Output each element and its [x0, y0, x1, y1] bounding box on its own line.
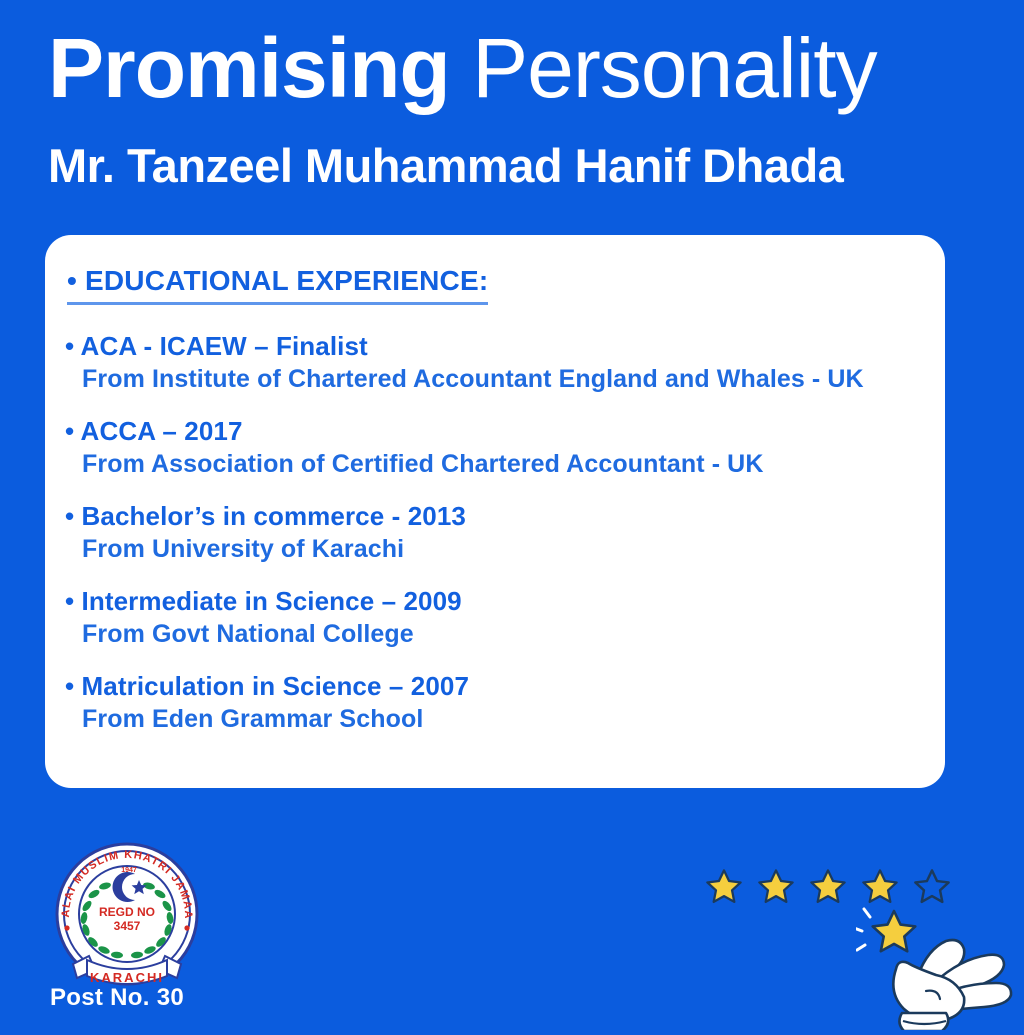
entry-institution: From Govt National College: [82, 620, 911, 649]
page-title: Promising Personality: [48, 26, 988, 110]
education-entry: • Matriculation in Science – 2007 From E…: [65, 671, 911, 734]
education-entry: • ACCA – 2017 From Association of Certif…: [65, 416, 911, 479]
star-icon-filled: [807, 866, 849, 913]
entry-institution: From University of Karachi: [82, 535, 911, 564]
person-name: Mr. Tanzeel Muhammad Hanif Dhada: [48, 138, 988, 193]
svg-text:1947: 1947: [121, 867, 137, 874]
svg-text:REGD NO: REGD NO: [99, 905, 155, 919]
hand-holding-star-illustration: [856, 905, 1024, 1030]
entry-title: • ACA - ICAEW – Finalist: [65, 331, 911, 362]
entry-institution: From Association of Certified Chartered …: [82, 450, 911, 479]
education-entry: • ACA - ICAEW – Finalist From Institute …: [65, 331, 911, 394]
education-entry: • Bachelor’s in commerce - 2013 From Uni…: [65, 501, 911, 564]
entry-title: • ACCA – 2017: [65, 416, 911, 447]
svg-text:KARACHI: KARACHI: [90, 970, 164, 985]
entry-title: • Intermediate in Science – 2009: [65, 586, 911, 617]
seal-icon: HALAI MUSLIM KHATRI JAMAAT: [47, 836, 207, 996]
education-entry-list: • ACA - ICAEW – Finalist From Institute …: [65, 331, 911, 734]
star-icon-filled: [755, 866, 797, 913]
page-title-bold: Promising: [48, 21, 450, 115]
entry-institution: From Eden Grammar School: [82, 705, 911, 734]
organization-logo: HALAI MUSLIM KHATRI JAMAAT: [47, 836, 207, 996]
section-heading-educational-experience: • EDUCATIONAL EXPERIENCE:: [67, 265, 488, 305]
education-card: • EDUCATIONAL EXPERIENCE: • ACA - ICAEW …: [45, 235, 945, 788]
post-number: Post No. 30: [50, 984, 184, 1012]
star-icon-filled: [703, 866, 745, 913]
entry-title: • Matriculation in Science – 2007: [65, 671, 911, 702]
svg-text:3457: 3457: [114, 919, 141, 933]
page-header: Promising Personality Mr. Tanzeel Muhamm…: [48, 26, 988, 193]
sparkle-icon: [856, 909, 870, 950]
entry-institution: From Institute of Chartered Accountant E…: [82, 365, 911, 394]
education-entry: • Intermediate in Science – 2009 From Go…: [65, 586, 911, 649]
page-title-light: Personality: [472, 21, 877, 115]
star-icon-held: [873, 911, 916, 951]
entry-title: • Bachelor’s in commerce - 2013: [65, 501, 911, 532]
